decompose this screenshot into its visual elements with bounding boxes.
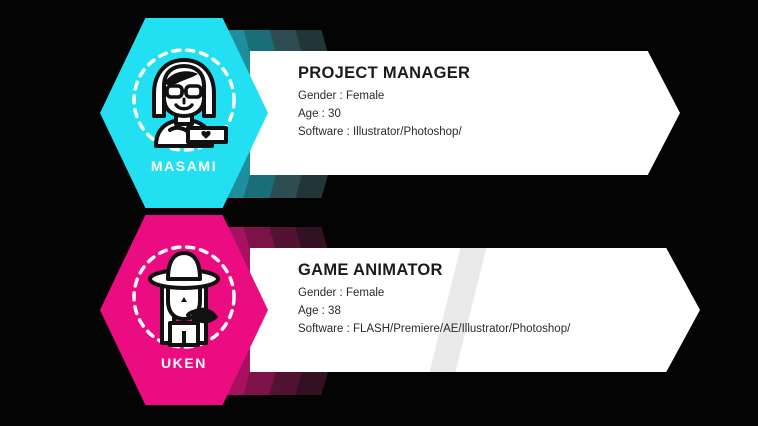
hexagon-badge[interactable]: UKEN: [100, 215, 268, 405]
info-panel: PROJECT MANAGER Gender : Female Age : 30…: [250, 51, 680, 175]
profile-cards-stage: PROJECT MANAGER Gender : Female Age : 30…: [0, 0, 758, 426]
person-name-label: MASAMI: [100, 158, 268, 174]
person-name-label: UKEN: [100, 355, 268, 371]
role-title: GAME ANIMATOR: [298, 261, 678, 280]
info-panel-text: GAME ANIMATOR Gender : Female Age : 38 S…: [298, 261, 678, 341]
software-line: Software : FLASH/Premiere/AE/Illustrator…: [298, 323, 678, 335]
software-line: Software : Illustrator/Photoshop/: [298, 126, 678, 138]
info-panel: GAME ANIMATOR Gender : Female Age : 38 S…: [250, 248, 700, 372]
role-title: PROJECT MANAGER: [298, 64, 678, 83]
woman-with-glasses-laptop-avatar-icon: [126, 42, 242, 158]
age-line: Age : 30: [298, 108, 678, 120]
info-panel-text: PROJECT MANAGER Gender : Female Age : 30…: [298, 64, 678, 144]
hexagon-badge[interactable]: MASAMI: [100, 18, 268, 208]
profile-card-uken[interactable]: GAME ANIMATOR Gender : Female Age : 38 S…: [0, 215, 758, 405]
age-line: Age : 38: [298, 305, 678, 317]
woman-with-hat-avatar-icon: [126, 239, 242, 355]
gender-line: Gender : Female: [298, 287, 678, 299]
gender-line: Gender : Female: [298, 90, 678, 102]
profile-card-masami[interactable]: PROJECT MANAGER Gender : Female Age : 30…: [0, 18, 758, 208]
